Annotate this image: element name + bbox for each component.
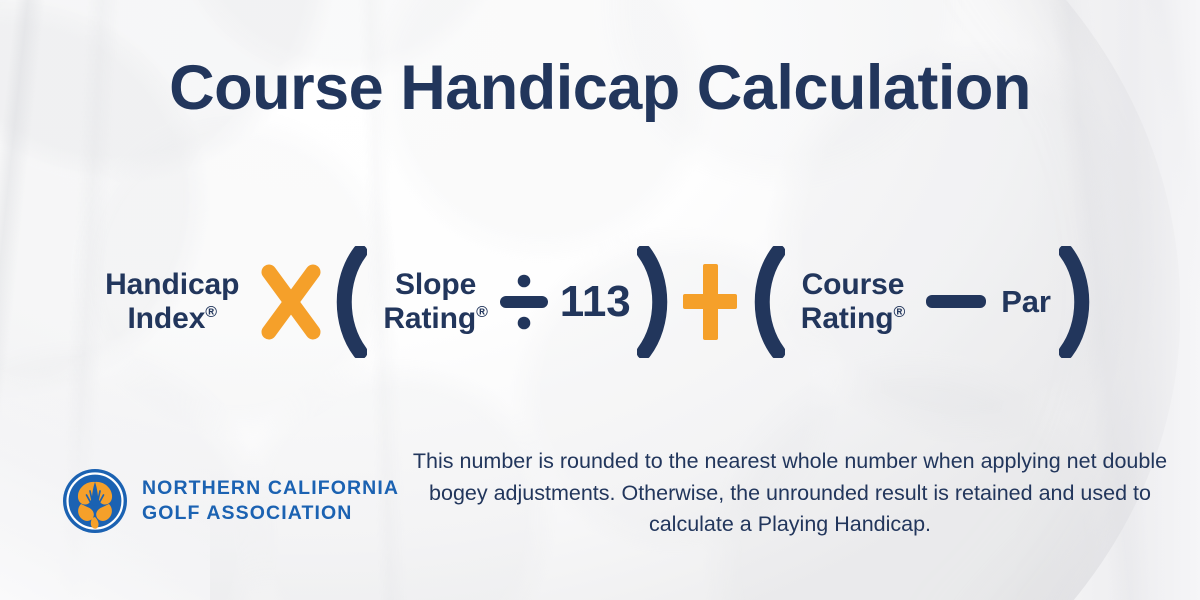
term-par: Par xyxy=(1001,284,1051,319)
ncga-logo: NORTHERN CALIFORNIA GOLF ASSOCIATION xyxy=(62,468,399,534)
term-handicap-index-line1: Handicap xyxy=(105,268,239,301)
registered-mark-course-rating: ® xyxy=(894,304,906,321)
term-course-rating-line2: Rating xyxy=(801,302,894,335)
close-paren-course-group xyxy=(1059,246,1095,358)
california-poppy-icon xyxy=(62,468,128,534)
minus-operator xyxy=(925,290,987,314)
handicap-formula: Handicap Index® Slope xyxy=(0,242,1200,362)
plus-operator xyxy=(675,258,745,346)
term-course-rating-line1: Course xyxy=(802,268,905,301)
divide-operator xyxy=(498,271,550,333)
open-paren-course-group xyxy=(749,246,785,358)
term-slope-rating-line1: Slope xyxy=(395,268,476,301)
term-course-rating: Course Rating® xyxy=(801,268,905,336)
ncga-logo-wordmark: NORTHERN CALIFORNIA GOLF ASSOCIATION xyxy=(142,476,399,527)
registered-mark-slope-rating: ® xyxy=(476,304,488,321)
ncga-logo-line2: GOLF ASSOCIATION xyxy=(142,502,352,524)
constant-113: 113 xyxy=(560,277,631,327)
page-title: Course Handicap Calculation xyxy=(0,52,1200,124)
multiply-operator xyxy=(255,260,327,344)
term-handicap-index: Handicap Index® xyxy=(105,268,239,336)
ncga-logo-line1: NORTHERN CALIFORNIA xyxy=(142,477,399,499)
close-paren-slope-group xyxy=(637,246,673,358)
infographic-canvas: Course Handicap Calculation Handicap Ind… xyxy=(0,0,1200,600)
term-slope-rating-line2: Rating xyxy=(383,302,476,335)
footnote-text: This number is rounded to the nearest wh… xyxy=(410,446,1170,541)
registered-mark-handicap-index: ® xyxy=(205,304,217,321)
open-paren-slope-group xyxy=(331,246,367,358)
term-handicap-index-line2: Index xyxy=(127,302,205,335)
term-slope-rating: Slope Rating® xyxy=(383,268,487,336)
